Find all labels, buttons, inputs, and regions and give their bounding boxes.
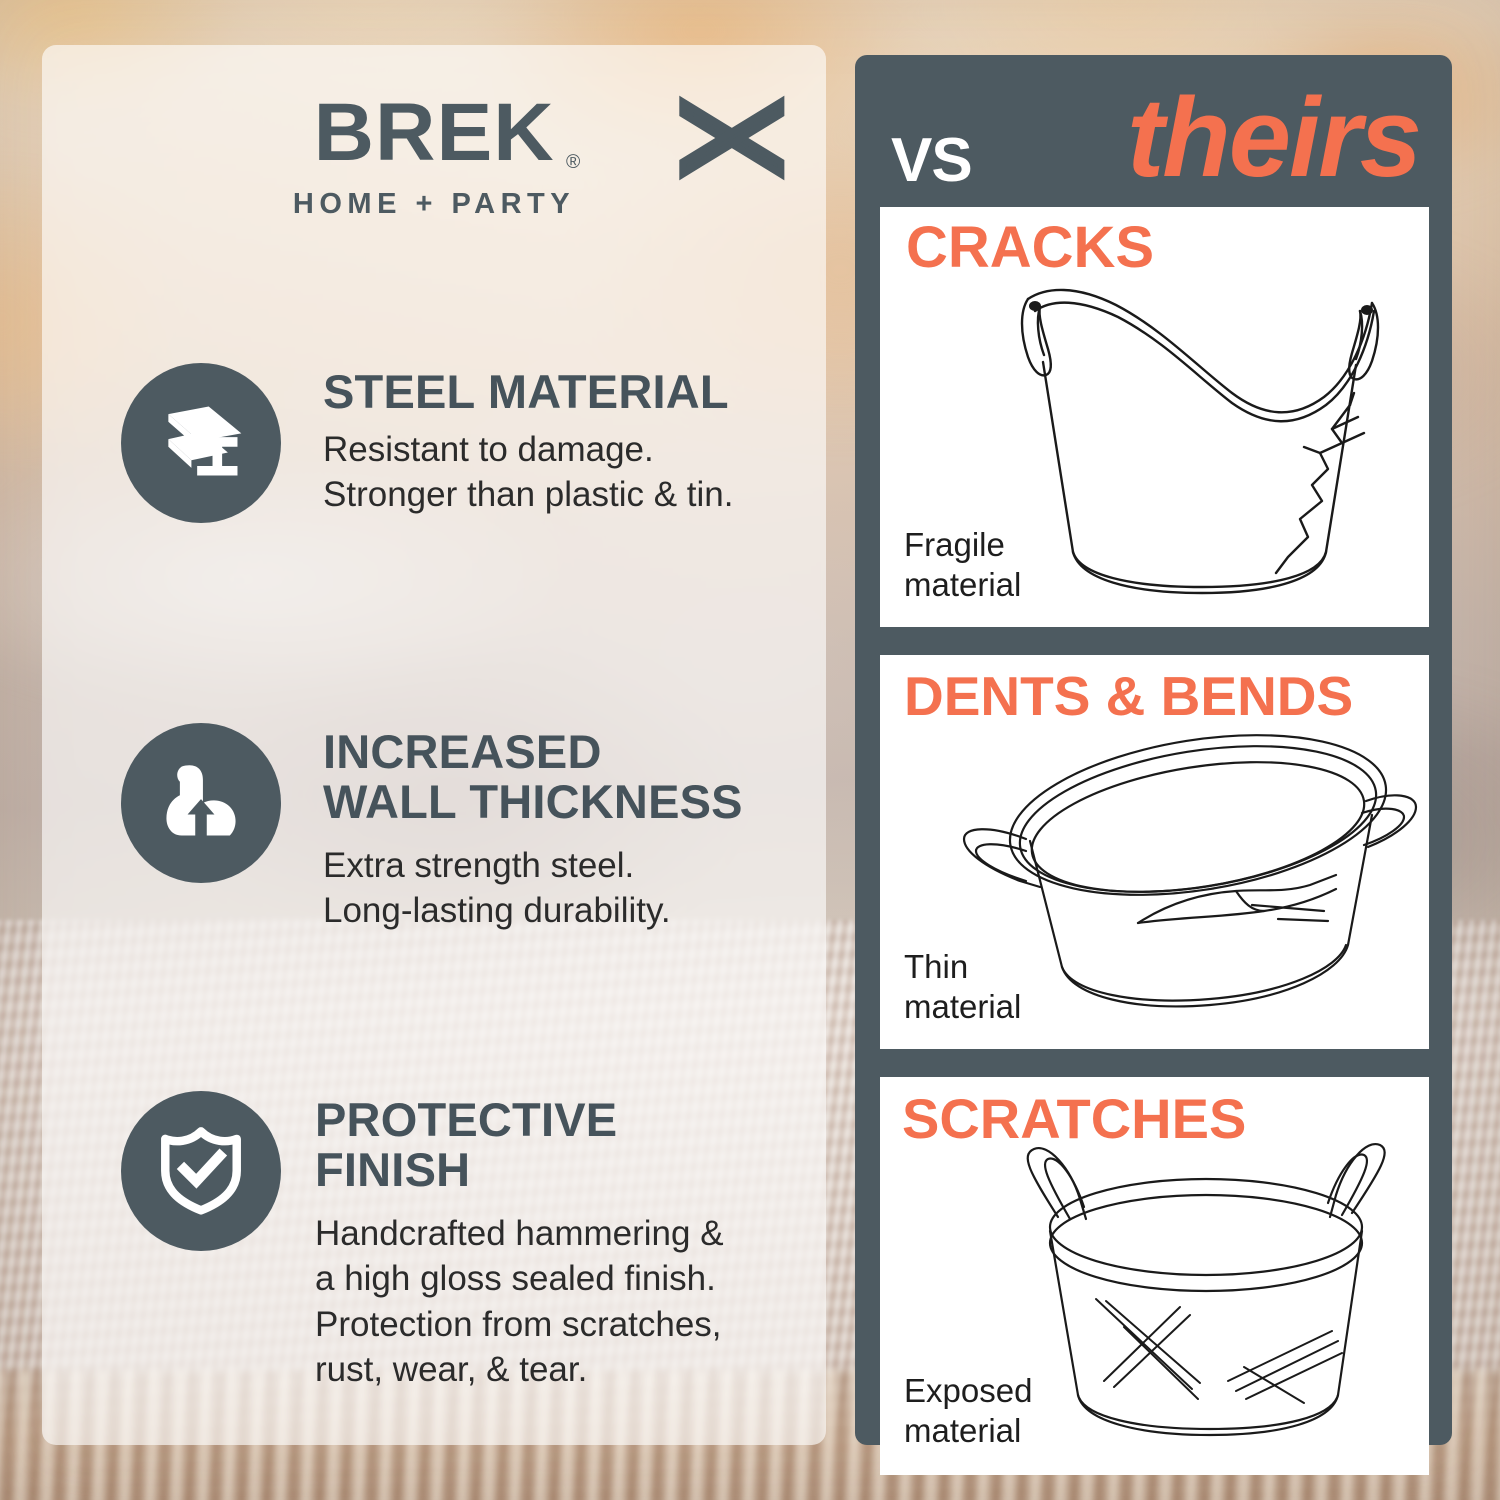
- card-title: DENTS & BENDS: [904, 669, 1353, 724]
- feature-text-block: STEEL MATERIAL Resistant to damage. Stro…: [323, 363, 734, 518]
- feature-description: Resistant to damage. Stronger than plast…: [323, 427, 734, 518]
- card-caption: Thin material: [904, 947, 1021, 1028]
- shield-check-icon: [154, 1122, 248, 1221]
- feature-wall-thickness: INCREASED WALL THICKNESS Extra strength …: [121, 723, 743, 934]
- brand-wordmark: BREK ®: [313, 92, 554, 174]
- theirs-label: theirs: [1127, 82, 1420, 194]
- feature-icon-badge: [121, 363, 281, 523]
- card-title: CRACKS: [906, 219, 1154, 277]
- feature-protective-finish: PROTECTIVE FINISH Handcrafted hammering …: [121, 1091, 724, 1393]
- feature-description: Extra strength steel. Long-lasting durab…: [323, 843, 743, 934]
- comparison-card-cracks: CRACKS Fragile material: [880, 207, 1429, 627]
- feature-description: Handcrafted hammering & a high gloss sea…: [315, 1211, 724, 1393]
- card-caption: Fragile material: [904, 525, 1021, 606]
- vs-label: VS: [891, 125, 972, 196]
- comparison-header: VS theirs: [855, 77, 1452, 207]
- brand-x-mark: [679, 86, 789, 182]
- registered-trademark-icon: ®: [566, 153, 581, 172]
- card-caption: Exposed material: [904, 1371, 1032, 1452]
- flexed-bicep-icon: [153, 753, 249, 854]
- feature-text-block: PROTECTIVE FINISH Handcrafted hammering …: [315, 1091, 724, 1393]
- feature-text-block: INCREASED WALL THICKNESS Extra strength …: [323, 723, 743, 934]
- card-title: SCRATCHES: [902, 1091, 1246, 1147]
- brand-wordmark-text: BRE: [313, 87, 493, 178]
- steel-beam-icon: [153, 393, 249, 494]
- feature-title: STEEL MATERIAL: [323, 367, 734, 417]
- brand-lockup: BREK ® HOME + PARTY: [42, 92, 826, 221]
- brand-tagline: HOME + PARTY: [42, 188, 826, 221]
- feature-title: INCREASED WALL THICKNESS: [323, 727, 743, 827]
- comparison-card-scratches: SCRATCHES Exposed material: [880, 1077, 1429, 1475]
- competitor-comparison-panel: VS theirs: [855, 55, 1452, 1445]
- feature-icon-badge: [121, 1091, 281, 1251]
- comparison-card-dents-bends: DENTS & BENDS Thin material: [880, 655, 1429, 1049]
- brand-wordmark-k: K: [493, 87, 554, 178]
- feature-icon-badge: [121, 723, 281, 883]
- brand-features-panel: BREK ® HOME + PARTY: [42, 45, 826, 1445]
- feature-steel-material: STEEL MATERIAL Resistant to damage. Stro…: [121, 363, 734, 523]
- feature-title: PROTECTIVE FINISH: [315, 1095, 724, 1195]
